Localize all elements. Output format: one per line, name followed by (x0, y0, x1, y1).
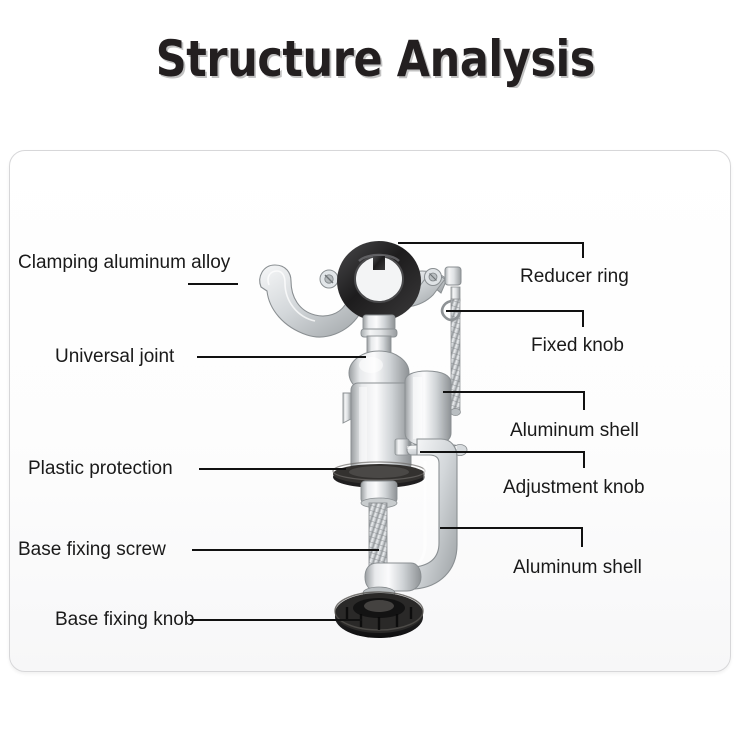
label-base-fixing-screw: Base fixing screw (18, 540, 166, 559)
page-title-container: Structure Analysis (0, 34, 750, 84)
base-fixing-knob (335, 592, 423, 638)
reducer-ring (337, 241, 421, 321)
label-clamping-aluminum-alloy: Clamping aluminum alloy (18, 253, 230, 272)
aluminum-shell-side (405, 371, 451, 446)
label-aluminum-shell-lower: Aluminum shell (513, 558, 642, 577)
page-title: Structure Analysis (155, 34, 594, 84)
clamp-bolt-left (320, 270, 338, 288)
label-plastic-protection: Plastic protection (28, 459, 173, 478)
aluminum-shell-body (343, 383, 411, 471)
label-fixed-knob: Fixed knob (531, 336, 624, 355)
label-adjustment-knob: Adjustment knob (503, 478, 645, 497)
label-aluminum-shell-upper: Aluminum shell (510, 421, 639, 440)
label-reducer-ring: Reducer ring (520, 267, 629, 286)
label-base-fixing-knob: Base fixing knob (55, 610, 194, 629)
label-universal-joint: Universal joint (55, 347, 174, 366)
product-illustration (255, 215, 505, 645)
